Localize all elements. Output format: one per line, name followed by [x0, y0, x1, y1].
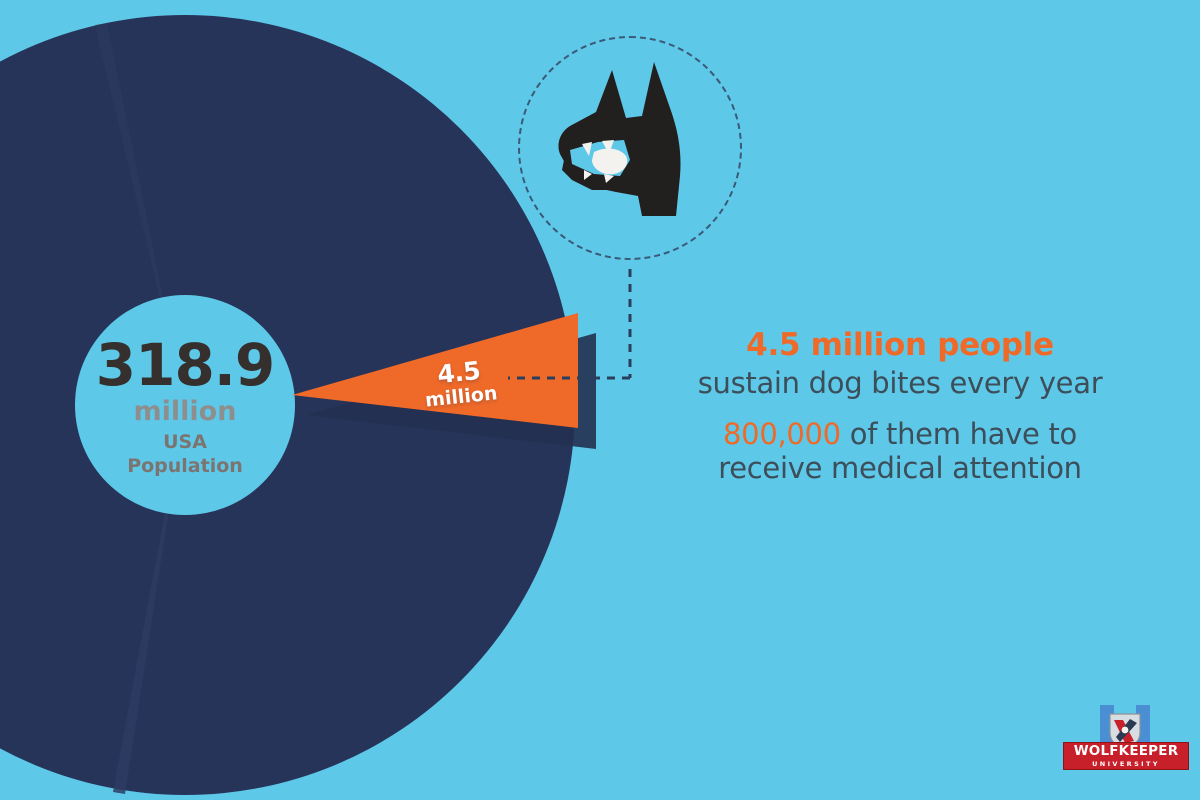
wolfkeeper-university-logo[interactable]: WOLFKEEPER UNIVERSITY	[1063, 703, 1189, 781]
stat-headline: 4.5 million people	[690, 327, 1110, 364]
stat-paragraph-2: 800,000 of them have to receive medical …	[690, 417, 1110, 485]
pie-chart	[0, 15, 575, 795]
stat-subline: sustain dog bites every year	[690, 366, 1110, 400]
stat-medical-rest: of them have to	[841, 417, 1077, 451]
logo-name-banner: WOLFKEEPER UNIVERSITY	[1063, 742, 1189, 770]
logo-name: WOLFKEEPER	[1074, 745, 1179, 759]
stat-medical-number: 800,000	[723, 417, 841, 451]
logo-subtitle: UNIVERSITY	[1092, 761, 1160, 768]
infographic-canvas: 318.9 million USA Population 4.5 million	[0, 0, 1200, 800]
callout-connector	[480, 255, 680, 400]
exploded-wedge-group	[0, 15, 575, 795]
dog-badge	[518, 36, 742, 260]
stat-medical-line2: receive medical attention	[690, 451, 1110, 485]
statistic-text-block: 4.5 million people sustain dog bites eve…	[690, 327, 1110, 485]
snarling-dog-head-icon	[546, 56, 716, 236]
